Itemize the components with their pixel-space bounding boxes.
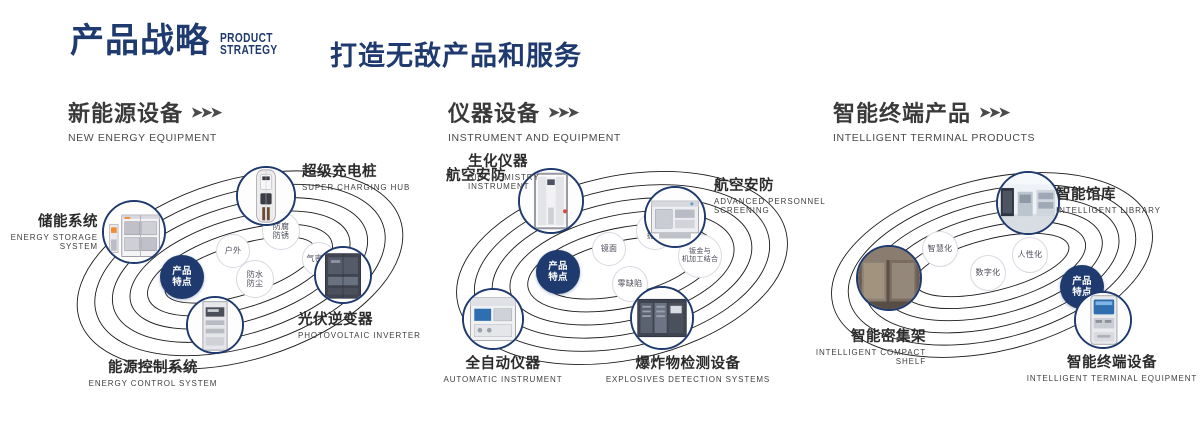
- chevron-right-icon: ➤➤➤: [979, 104, 1008, 121]
- screening-machine-icon: [646, 188, 704, 246]
- feature-bubble-smart: 智慧化: [922, 231, 958, 267]
- feature-label: 钣金与: [682, 248, 719, 257]
- node-advanced-personnel-screening[interactable]: [644, 186, 706, 248]
- section-heading-new-energy: 新能源设备➤➤➤ NEW ENERGY EQUIPMENT: [68, 96, 220, 144]
- node-label-en: PHOTOVOLTAIC INVERTER: [298, 331, 421, 340]
- label-intelligent-terminal-equipment: 智能终端设备 INTELLIGENT TERMINAL EQUIPMENT: [1022, 351, 1200, 383]
- feature-label: 镜面: [601, 244, 618, 254]
- node-explosives-detection-systems[interactable]: [630, 286, 694, 350]
- energy-storage-cabinet-icon: [104, 202, 164, 262]
- inverter-cabinet-icon: [316, 248, 370, 302]
- label-super-charging-hub: 超级充电桩 SUPER CHARGING HUB: [302, 160, 410, 192]
- feature-label: 户外: [225, 246, 242, 256]
- node-label-cn: 智能密集架: [746, 325, 926, 346]
- label-intelligent-compact-shelf: 智能密集架 INTELLIGENT COMPACT SHELF: [746, 325, 926, 366]
- feature-label: 人性化: [1018, 250, 1043, 260]
- label-automatic-instrument: 全自动仪器 AUTOMATIC INSTRUMENT: [420, 352, 586, 384]
- feature-core-line2: 特点: [172, 277, 192, 288]
- node-intelligent-library[interactable]: [996, 171, 1060, 235]
- feature-label: 防锈: [273, 231, 290, 241]
- node-label-en: ADVANCED PERSONNEL SCREENING: [714, 197, 826, 215]
- section-heading-en: NEW ENERGY EQUIPMENT: [68, 132, 220, 144]
- section-heading-instrument: 仪器设备➤➤➤ INSTRUMENT AND EQUIPMENT: [448, 96, 621, 144]
- label-intelligent-library: 智能馆库 INTELLIGENT LIBRARY: [1056, 183, 1161, 215]
- feature-core-bubble: 产品特点: [160, 255, 204, 299]
- feature-bubble-waterproof: 防水防尘: [236, 260, 274, 298]
- self-service-kiosk-icon: [1076, 293, 1130, 347]
- node-super-charging-hub[interactable]: [236, 166, 296, 226]
- node-label-cn: 光伏逆变器: [298, 308, 421, 329]
- page-subtitle: 打造无敌产品和服务: [330, 34, 582, 73]
- page-title: 产品战略: [70, 24, 210, 58]
- cluster-intelligent-terminal: 智慧化 数字化 人性化 产品特点: [810, 155, 1200, 395]
- node-label-en: SUPER CHARGING HUB: [302, 183, 410, 192]
- control-cabinet-icon: [188, 298, 242, 352]
- automatic-analyzer-icon: [464, 290, 522, 348]
- feature-label: 智慧化: [928, 244, 953, 254]
- section-heading-intelligent-terminal: 智能终端产品➤➤➤ INTELLIGENT TERMINAL PRODUCTS: [833, 96, 1035, 144]
- node-label-en: EXPLOSIVES DETECTION SYSTEMS: [590, 375, 786, 384]
- feature-label: 防水: [247, 270, 264, 280]
- node-label-en: ENERGY CONTROL SYSTEM: [68, 379, 238, 388]
- label-advanced-personnel-screening: 航空安防 ADVANCED PERSONNEL SCREENING: [714, 174, 826, 215]
- node-label-en: BIOCHEMISTRY INSTRUMENT: [468, 173, 540, 191]
- feature-label: 机加工结合: [682, 256, 719, 265]
- feature-core-line1: 产品: [172, 266, 192, 277]
- node-photovoltaic-inverter[interactable]: [314, 246, 372, 304]
- feature-core-line1: 产品: [1072, 276, 1092, 287]
- page-title-english-line2: STRATEGY: [220, 44, 278, 56]
- node-label-cn: 航空安防: [714, 174, 826, 195]
- node-label-en: INTELLIGENT LIBRARY: [1056, 206, 1161, 215]
- node-automatic-instrument[interactable]: [462, 288, 524, 350]
- chevron-right-icon: ➤➤➤: [548, 104, 577, 121]
- node-label-cn: 智能终端设备: [1022, 351, 1200, 372]
- detection-cabinet-icon: [632, 288, 692, 348]
- feature-bubble-humanized: 人性化: [1012, 237, 1048, 273]
- page-header: 产品战略 PRODUCT STRATEGY: [70, 24, 294, 58]
- label-energy-storage-system: 储能系统 ENERGY STORAGE SYSTEM: [0, 210, 98, 251]
- node-energy-storage-system[interactable]: [102, 200, 166, 264]
- library-room-icon: [998, 173, 1058, 233]
- feature-bubble-digital: 数字化: [970, 255, 1006, 291]
- label-biochemistry-instrument: 生化仪器 BIOCHEMISTRY INSTRUMENT: [468, 150, 540, 191]
- product-strategy-infographic: 产品战略 PRODUCT STRATEGY 打造无敌产品和服务 新能源设备➤➤➤…: [0, 0, 1200, 422]
- node-energy-control-system[interactable]: [186, 296, 244, 354]
- node-label-cn: 能源控制系统: [68, 356, 238, 377]
- charging-pile-icon: [238, 168, 294, 224]
- node-label-cn: 超级充电桩: [302, 160, 410, 181]
- chevron-right-icon: ➤➤➤: [191, 104, 220, 121]
- node-intelligent-terminal-equipment[interactable]: [1074, 291, 1132, 349]
- feature-label: 防尘: [247, 279, 264, 289]
- section-heading-en: INTELLIGENT TERMINAL PRODUCTS: [833, 132, 1035, 144]
- node-label-en: INTELLIGENT TERMINAL EQUIPMENT: [1022, 374, 1200, 383]
- node-label-en: INTELLIGENT COMPACT SHELF: [746, 348, 926, 366]
- section-heading-cn: 仪器设备: [448, 96, 540, 128]
- feature-label: 数字化: [976, 268, 1001, 278]
- feature-core-line2: 特点: [548, 272, 568, 283]
- feature-core-bubble: 产品特点: [536, 250, 580, 294]
- node-label-cn: 储能系统: [0, 210, 98, 231]
- feature-core-line1: 产品: [548, 261, 568, 272]
- section-heading-cn: 智能终端产品: [833, 96, 971, 128]
- label-photovoltaic-inverter: 光伏逆变器 PHOTOVOLTAIC INVERTER: [298, 308, 421, 340]
- node-label-en: AUTOMATIC INSTRUMENT: [420, 375, 586, 384]
- node-intelligent-compact-shelf[interactable]: [856, 245, 922, 311]
- section-heading-cn: 新能源设备: [68, 96, 183, 128]
- page-title-english: PRODUCT STRATEGY: [220, 32, 278, 56]
- section-heading-en: INSTRUMENT AND EQUIPMENT: [448, 132, 621, 144]
- node-label-en: ENERGY STORAGE SYSTEM: [0, 233, 98, 251]
- node-label-cn: 全自动仪器: [420, 352, 586, 373]
- node-label-cn: 智能馆库: [1056, 183, 1161, 204]
- node-label-cn: 生化仪器: [468, 150, 540, 171]
- feature-bubble-mirror: 镜面: [592, 232, 626, 266]
- label-energy-control-system: 能源控制系统 ENERGY CONTROL SYSTEM: [68, 356, 238, 388]
- cluster-new-energy: 产品特点 户外 防腐防锈 防水防尘 气密性: [40, 150, 440, 390]
- compact-shelf-icon: [858, 247, 920, 309]
